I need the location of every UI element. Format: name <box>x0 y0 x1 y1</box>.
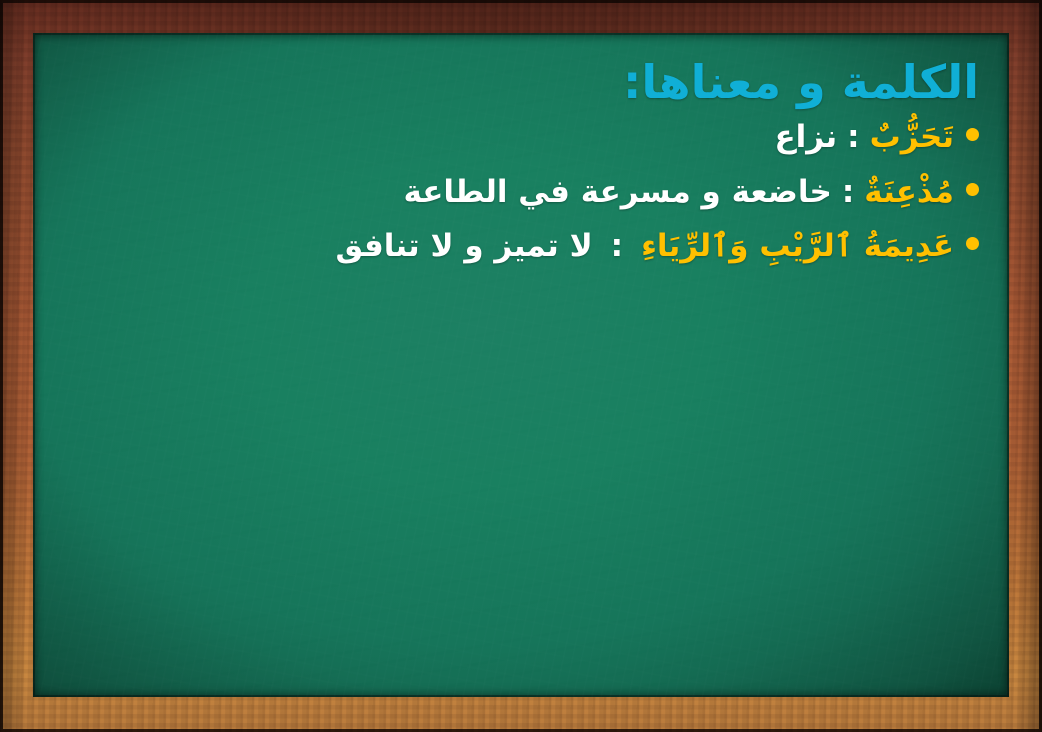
vocabulary-entry: تَحَزُّبٌ : نزاع <box>774 117 954 157</box>
list-item: تَحَزُّبٌ : نزاع <box>63 117 979 157</box>
bullet-dot-icon <box>966 128 979 141</box>
page-title: الكلمة و معناها: <box>63 55 979 109</box>
vocabulary-list: تَحَزُّبٌ : نزاع مُذْعِنَةٌ : خاضعة و مس… <box>63 117 979 266</box>
vocabulary-term: مُذْعِنَةٌ <box>864 172 954 212</box>
bullet-dot-icon <box>966 237 979 250</box>
vocabulary-entry: عَدِيمَةُ ٱلرَّيْبِ وَٱلرِّيَاءِ : لا تم… <box>336 226 954 266</box>
vocabulary-entry: مُذْعِنَةٌ : خاضعة و مسرعة في الطاعة <box>403 172 954 212</box>
term-separator: : <box>838 172 858 212</box>
chalkboard-surface: الكلمة و معناها: تَحَزُّبٌ : نزاع مُذْعِ… <box>33 33 1009 697</box>
chalkboard-slide: الكلمة و معناها: تَحَزُّبٌ : نزاع مُذْعِ… <box>0 0 1042 732</box>
list-item: عَدِيمَةُ ٱلرَّيْبِ وَٱلرِّيَاءِ : لا تم… <box>63 226 979 266</box>
list-item: مُذْعِنَةٌ : خاضعة و مسرعة في الطاعة <box>63 172 979 212</box>
vocabulary-meaning: خاضعة و مسرعة في الطاعة <box>403 172 831 212</box>
term-separator: : <box>843 117 863 157</box>
bullet-dot-icon <box>966 183 979 196</box>
vocabulary-term: تَحَزُّبٌ <box>870 117 954 157</box>
vocabulary-term: عَدِيمَةُ ٱلرَّيْبِ وَٱلرِّيَاءِ <box>641 226 954 266</box>
vocabulary-meaning: لا تميز و لا تنافق <box>336 226 593 266</box>
slide-content: الكلمة و معناها: تَحَزُّبٌ : نزاع مُذْعِ… <box>33 33 1009 697</box>
term-separator: : <box>599 226 635 266</box>
vocabulary-meaning: نزاع <box>774 117 837 157</box>
